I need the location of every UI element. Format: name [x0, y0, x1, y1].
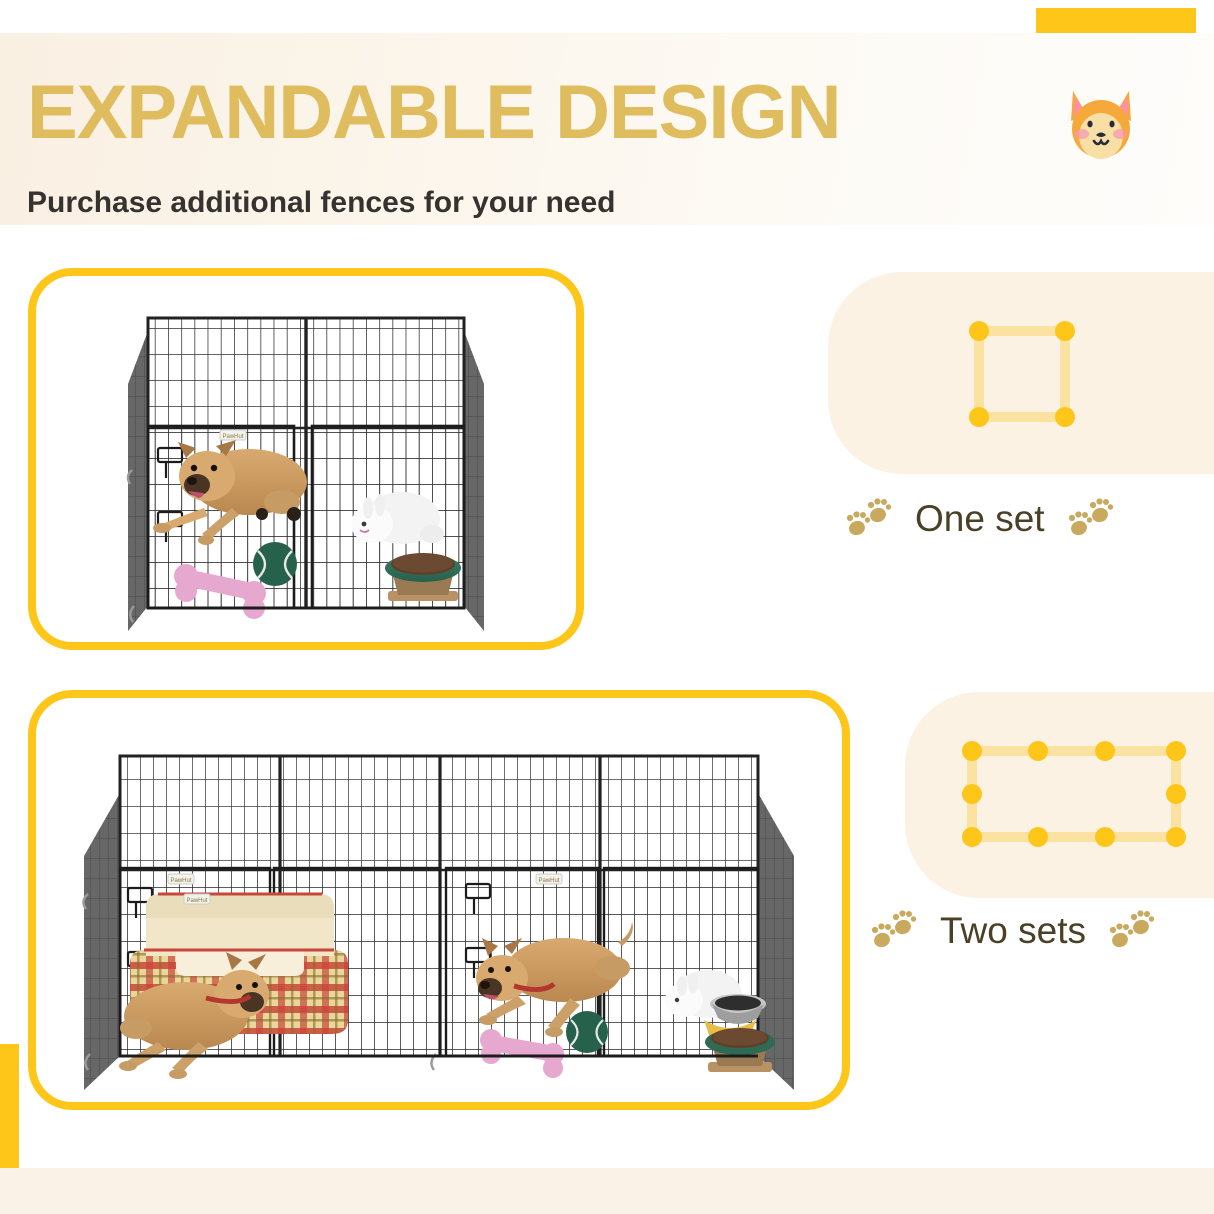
svg-text:PawHut: PawHut [538, 878, 559, 884]
product-photo-one-set: PawHut [28, 268, 584, 650]
info-panel-two-sets [905, 692, 1214, 898]
two-sets-caption: Two sets [870, 910, 1156, 952]
product-photo-two-sets-image: PawHut PawHut [36, 698, 842, 1102]
product-photo-one-set-image: PawHut [36, 276, 576, 642]
info-panel-one-set [828, 272, 1214, 474]
two-sets-label: Two sets [940, 910, 1086, 952]
page-subtitle: Purchase additional fences for your need [27, 186, 616, 220]
header-band: EXPANDABLE DESIGN Purchase additional fe… [0, 33, 1214, 225]
paw-print-icon [870, 910, 918, 952]
product-photo-two-sets: PawHut PawHut [28, 690, 850, 1110]
dog-head-icon [1063, 81, 1139, 163]
svg-text:PawHut: PawHut [222, 434, 243, 440]
paw-print-icon [1108, 910, 1156, 952]
one-set-shape-diagram [962, 314, 1082, 434]
two-sets-shape-diagram [955, 734, 1193, 854]
svg-text:PawHut: PawHut [170, 878, 191, 884]
one-set-label: One set [915, 498, 1045, 540]
one-set-caption: One set [845, 498, 1115, 540]
paw-print-icon [845, 498, 893, 540]
paw-print-icon [1067, 498, 1115, 540]
page-title: EXPANDABLE DESIGN [27, 75, 840, 151]
svg-text:PawHut: PawHut [186, 898, 207, 904]
footer-band [0, 1168, 1214, 1214]
